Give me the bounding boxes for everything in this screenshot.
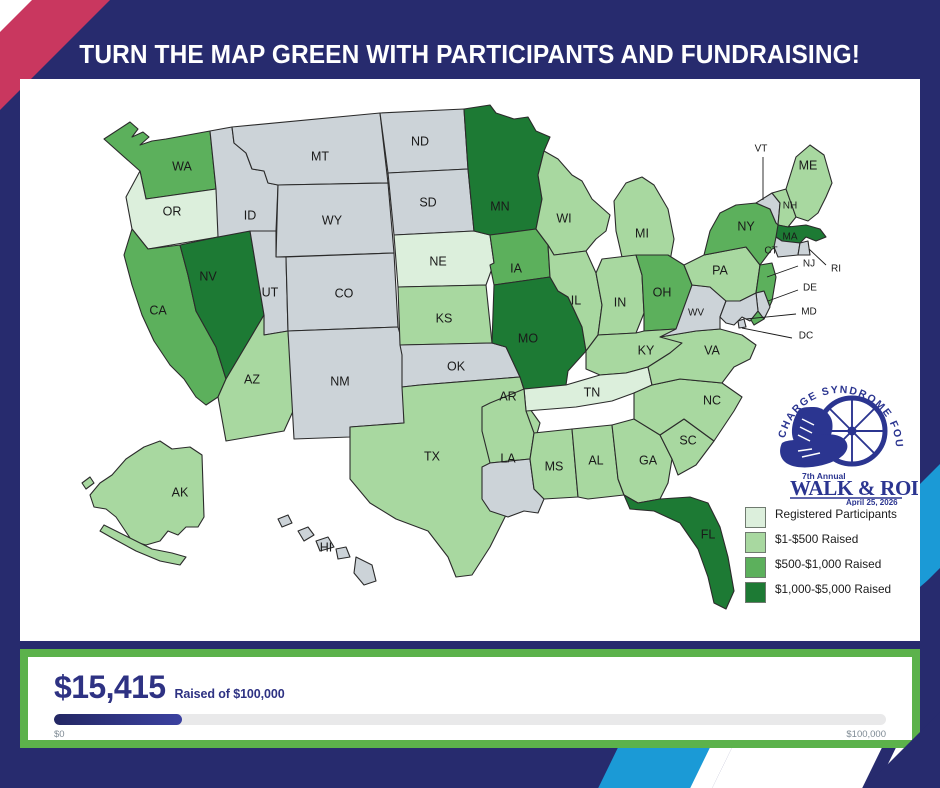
svg-text:AK: AK (172, 485, 189, 499)
svg-text:TX: TX (424, 449, 441, 463)
svg-text:HI: HI (320, 540, 333, 554)
state-IA (490, 229, 550, 285)
legend-item-1-500: $1-$500 Raised (745, 532, 920, 553)
legend-label-registered: Registered Participants (775, 507, 897, 522)
svg-text:DC: DC (799, 331, 813, 342)
headline-text: TURN THE MAP GREEN WITH PARTICIPANTS AND… (80, 41, 861, 70)
svg-text:IL: IL (571, 293, 581, 307)
svg-text:KS: KS (436, 311, 453, 325)
svg-text:MA: MA (783, 232, 798, 243)
logo-name-text: WALK & ROLL (790, 476, 918, 500)
svg-text:OR: OR (163, 204, 182, 218)
state-HI4 (336, 547, 350, 559)
legend-label-1000-5000: $1,000-$5,000 Raised (775, 582, 891, 597)
legend-swatch-1000-5000 (745, 582, 766, 603)
state-HI2 (298, 527, 314, 541)
svg-text:KY: KY (638, 343, 655, 357)
svg-text:MO: MO (518, 331, 538, 345)
svg-text:LA: LA (500, 451, 516, 465)
svg-text:AR: AR (499, 389, 516, 403)
svg-text:NV: NV (199, 269, 217, 283)
state-AK2 (82, 477, 94, 489)
svg-text:NH: NH (783, 201, 797, 212)
svg-text:WI: WI (556, 211, 571, 225)
svg-text:VT: VT (755, 144, 768, 155)
page-title: TURN THE MAP GREEN WITH PARTICIPANTS AND… (0, 34, 940, 76)
svg-text:MI: MI (635, 226, 649, 240)
svg-text:PA: PA (712, 263, 728, 277)
legend-item-1000-5000: $1,000-$5,000 Raised (745, 582, 920, 603)
state-WI (536, 151, 610, 255)
svg-text:ID: ID (244, 208, 257, 222)
svg-text:WY: WY (322, 213, 343, 227)
svg-text:MD: MD (801, 307, 817, 318)
svg-text:DE: DE (803, 283, 817, 294)
svg-text:NE: NE (429, 254, 446, 268)
state-FL (624, 495, 734, 609)
progress-max-label: $100,000 (54, 729, 886, 740)
legend-label-1-500: $1-$500 Raised (775, 532, 858, 547)
legend-item-registered: Registered Participants (745, 507, 920, 528)
svg-text:MS: MS (545, 459, 564, 473)
svg-text:AL: AL (588, 453, 603, 467)
legend-label-500-1000: $500-$1,000 Raised (775, 557, 881, 572)
svg-text:UT: UT (262, 285, 279, 299)
svg-text:RI: RI (831, 264, 841, 275)
state-HI1 (278, 515, 292, 527)
state-MN (464, 105, 550, 235)
state-RI (798, 241, 810, 255)
svg-text:ME: ME (799, 158, 818, 172)
walk-and-roll-logo: CHARGE SYNDROME FOUNDATION (768, 371, 918, 506)
legend-item-500-1000: $500-$1,000 Raised (745, 557, 920, 578)
svg-text:NY: NY (737, 219, 755, 233)
legend-swatch-500-1000 (745, 557, 766, 578)
bottom-accent-bar (0, 748, 940, 788)
svg-text:OH: OH (653, 285, 672, 299)
state-VA (648, 329, 756, 385)
map-legend: Registered Participants $1-$500 Raised $… (745, 507, 920, 607)
svg-text:WA: WA (172, 159, 192, 173)
svg-text:CO: CO (335, 286, 354, 300)
svg-text:SC: SC (679, 433, 696, 447)
svg-text:TN: TN (584, 385, 601, 399)
svg-text:MT: MT (311, 149, 329, 163)
svg-text:ND: ND (411, 134, 429, 148)
fundraising-inner: $15,415 Raised of $100,000 $0 $100,000 (28, 657, 912, 740)
raised-of-goal-text: Raised of $100,000 (174, 687, 284, 701)
state-DC (738, 319, 746, 328)
svg-text:IA: IA (510, 261, 522, 275)
fundraising-panel: $15,415 Raised of $100,000 $0 $100,000 (20, 649, 920, 748)
svg-text:NC: NC (703, 393, 721, 407)
legend-swatch-1-500 (745, 532, 766, 553)
progress-bar-fill (54, 714, 182, 725)
svg-text:CT: CT (764, 246, 777, 257)
svg-text:SD: SD (419, 195, 436, 209)
svg-text:AZ: AZ (244, 372, 260, 386)
logo-date-text: April 25, 2026 (846, 498, 898, 506)
svg-text:WV: WV (688, 308, 704, 319)
svg-text:FL: FL (701, 527, 716, 541)
progress-bar-track (54, 714, 886, 725)
amount-line: $15,415 Raised of $100,000 (54, 669, 285, 706)
svg-text:MN: MN (490, 199, 509, 213)
svg-text:OK: OK (447, 359, 466, 373)
poster-canvas: TURN THE MAP GREEN WITH PARTICIPANTS AND… (0, 0, 940, 788)
map-card: WA OR CA NV ID MT WY UT CO AZ NM ND SD N… (20, 79, 920, 641)
svg-text:VA: VA (704, 343, 720, 357)
state-WA (104, 122, 216, 199)
svg-text:NJ: NJ (803, 259, 815, 270)
svg-text:IN: IN (614, 295, 627, 309)
state-HI5 (354, 557, 376, 585)
svg-text:CA: CA (149, 303, 167, 317)
svg-text:NM: NM (330, 374, 349, 388)
raised-amount: $15,415 (54, 669, 165, 706)
svg-text:GA: GA (639, 453, 658, 467)
legend-swatch-registered (745, 507, 766, 528)
